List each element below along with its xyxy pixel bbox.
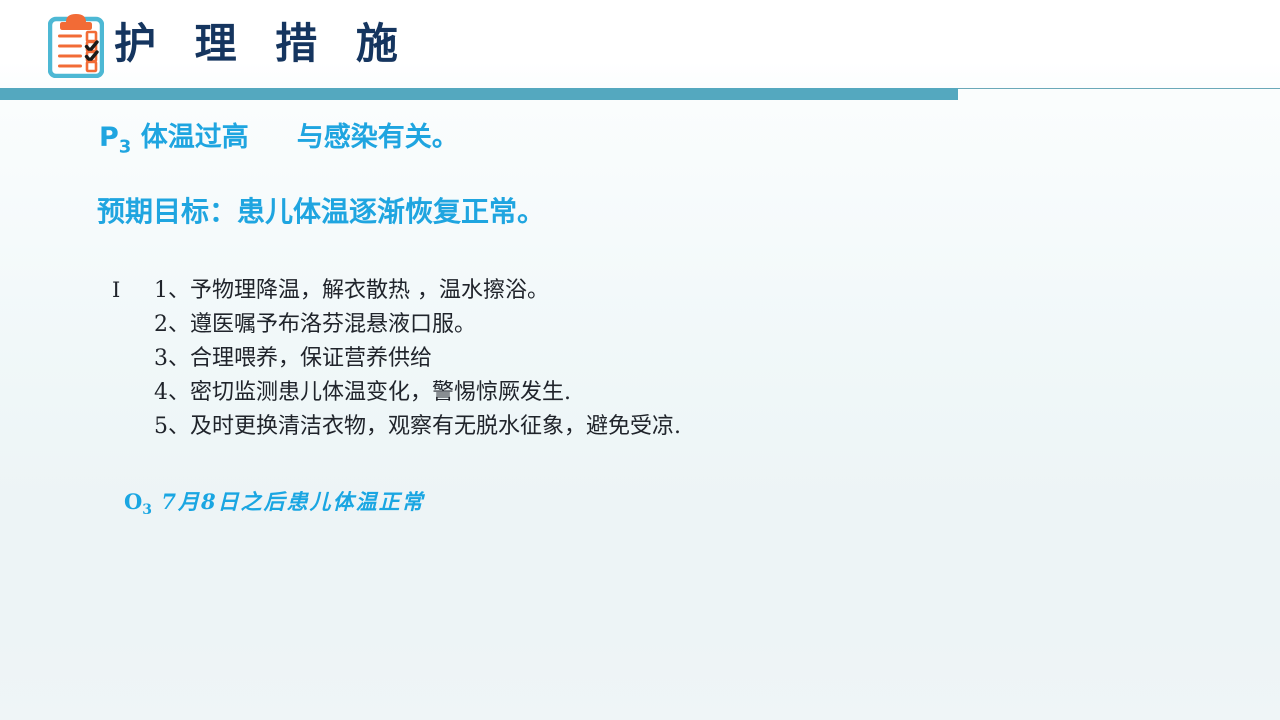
section-marker: Ⅰ [112,278,154,302]
outcome-code: O [124,489,142,514]
problem-spacer-1 [131,122,140,153]
expected-goal: 预期目标：患儿体温逐渐恢复正常。 [97,193,545,231]
header-divider-line [958,88,1280,89]
problem-code: P [99,122,119,153]
list-item: 2、遵医嘱予布洛芬混悬液口服。 [112,306,1012,340]
list-item-marker: 1、 [154,272,190,304]
list-item: 3、合理喂养，保证营养供给 [112,340,1012,374]
list-item: 4、密切监测患儿体温变化，警惕惊厥发生. [112,374,1012,408]
nursing-measures-list: Ⅰ1、予物理降温，解衣散热 ，温水擦浴。 2、遵医嘱予布洛芬混悬液口服。 3、合… [112,272,1012,442]
problem-statement: P3 体温过高与感染有关。 [99,120,459,165]
list-item-text: 予物理降温，解衣散热 ，温水擦浴。 [190,272,549,304]
outcome-text: 7月8日之后患儿体温正常 [161,489,424,514]
outcome-spacer [152,489,161,514]
slide-header: 护 理 措 施 [0,0,1280,88]
page-title: 护 理 措 施 [114,12,410,76]
outcome-statement: O3 7月8日之后患儿体温正常 [124,487,425,525]
slide-canvas: 护 理 措 施 P3 体温过高与感染有关。 预期目标：患儿体温逐渐恢复正常。 Ⅰ… [0,0,1280,720]
list-item-text: 合理喂养，保证营养供给 [190,340,432,372]
list-item-marker: 5、 [154,408,190,440]
list-item-text: 密切监测患儿体温变化，警惕惊厥发生. [190,374,571,406]
clipboard-checklist-icon [48,12,104,78]
outcome-code-subscript: 3 [142,502,152,518]
header-divider-bar [0,88,958,100]
list-item-text: 及时更换清洁衣物，观察有无脱水征象，避免受凉. [190,408,681,440]
list-item: Ⅰ1、予物理降温，解衣散热 ，温水擦浴。 [112,272,1012,306]
list-item: 5、及时更换清洁衣物，观察有无脱水征象，避免受凉. [112,408,1012,442]
list-item-text: 遵医嘱予布洛芬混悬液口服。 [190,306,476,338]
problem-related-to: 与感染有关。 [297,122,459,153]
list-item-marker: 4、 [154,374,190,406]
problem-code-subscript: 3 [119,136,132,157]
list-item-marker: 3、 [154,340,190,372]
problem-diagnosis: 体温过高 [141,122,249,153]
list-item-marker: 2、 [154,306,190,338]
